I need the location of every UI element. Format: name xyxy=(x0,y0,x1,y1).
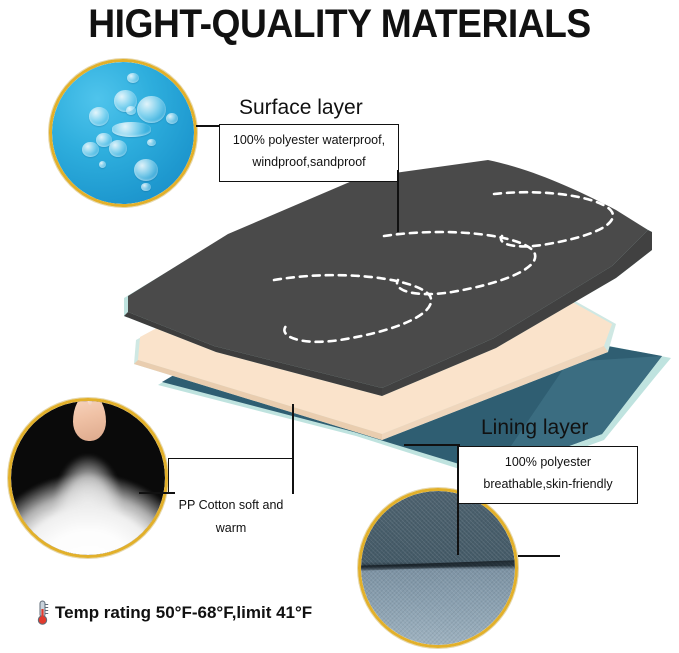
lining-fabric-photo xyxy=(358,488,518,648)
page-title: HIGHT-QUALITY MATERIALS xyxy=(24,0,655,48)
infographic-canvas: HIGHT-QUALITY MATERIALS xyxy=(0,0,679,653)
surface-layer-heading: Surface layer xyxy=(239,96,363,120)
thermometer-icon xyxy=(36,600,49,626)
lining-layer-callout: 100% polyester breathable,skin-friendly xyxy=(458,446,638,504)
lining-fabric-image xyxy=(361,491,515,645)
water-droplets-photo xyxy=(49,59,197,207)
lining-leader-from-photo xyxy=(518,555,560,557)
pp-cotton-photo xyxy=(8,398,168,558)
middle-layer-callout: PP Cotton soft and warm xyxy=(168,494,294,540)
cotton-mound xyxy=(11,463,165,555)
lining-leader-to-product xyxy=(404,444,460,446)
temp-rating-row: Temp rating 50°F-68°F,limit 41°F xyxy=(36,600,312,626)
surface-leader-to-product xyxy=(397,170,399,232)
fingernail-shape xyxy=(88,401,92,405)
temp-rating-label: Temp rating 50°F-68°F,limit 41°F xyxy=(55,603,312,623)
lining-leader-left-edge xyxy=(457,446,459,555)
lining-line-2: breathable,skin-friendly xyxy=(467,474,629,496)
water-droplets-image xyxy=(52,62,194,204)
lining-layer-heading: Lining layer xyxy=(481,416,588,440)
middle-layer-heading-box xyxy=(168,458,294,492)
surface-line-2: windproof,sandproof xyxy=(228,152,390,174)
surface-line-1: 100% polyester waterproof, xyxy=(228,130,390,152)
surface-layer-callout: 100% polyester waterproof, windproof,san… xyxy=(219,124,399,182)
middle-leader-to-product xyxy=(292,404,294,494)
pp-cotton-image xyxy=(11,401,165,555)
middle-line-1: PP Cotton soft xyxy=(179,498,259,512)
lining-line-1: 100% polyester xyxy=(467,452,629,474)
